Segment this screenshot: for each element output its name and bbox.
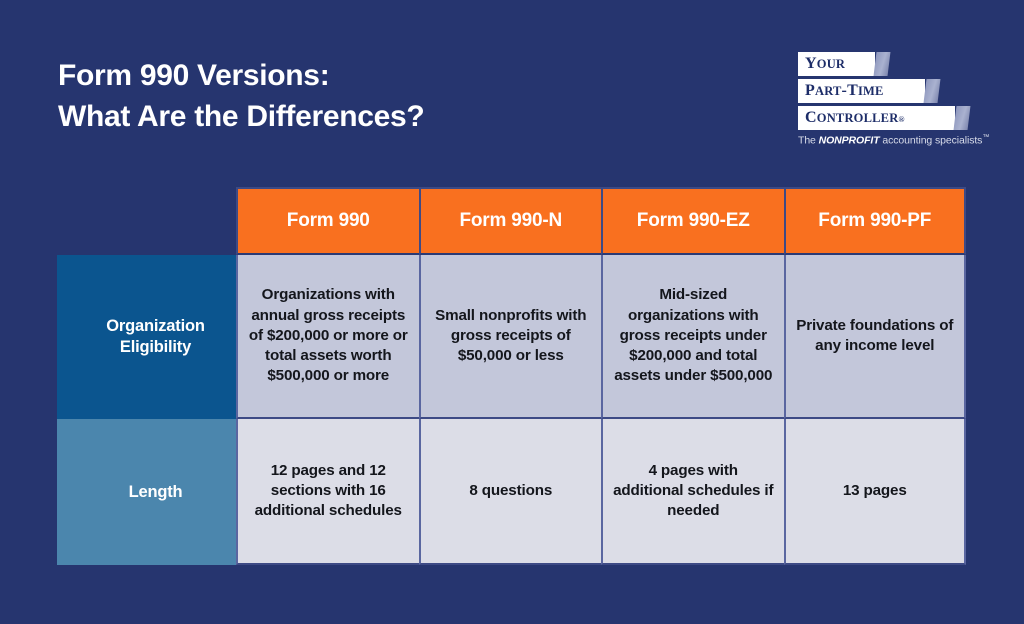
- column-header-form-990-n: Form 990-N: [419, 187, 602, 255]
- cell-eligibility-form-990-n: Small nonprofits with gross receipts of …: [419, 255, 602, 419]
- page-title-line-2: What Are the Differences?: [58, 96, 424, 137]
- table-row: Length 12 pages and 12 sections with 16 …: [57, 419, 966, 565]
- column-header-form-990-ez: Form 990-EZ: [601, 187, 784, 255]
- row-label-length: Length: [57, 419, 236, 565]
- logo-text-part-time: PART-TIME: [805, 82, 884, 100]
- logo-line-your: YOUR: [798, 52, 978, 76]
- cell-eligibility-form-990-ez: Mid-sized organizations with gross recei…: [601, 255, 784, 419]
- logo-plate-controller: CONTROLLER®: [798, 106, 955, 130]
- logo-line-part-time: PART-TIME: [798, 79, 978, 103]
- registered-trademark-icon: ®: [898, 111, 904, 126]
- cell-eligibility-form-990: Organizations with annual gross receipts…: [236, 255, 419, 419]
- logo-plate-part-time: PART-TIME: [798, 79, 925, 103]
- table-corner-cell: [57, 187, 236, 255]
- cell-length-form-990-ez: 4 pages with additional schedules if nee…: [601, 419, 784, 565]
- tagline-prefix: The: [798, 135, 819, 147]
- page-title: Form 990 Versions: What Are the Differen…: [58, 55, 424, 138]
- logo-fold-icon: [924, 79, 941, 103]
- tagline-emphasis: NONPROFIT: [819, 135, 880, 147]
- company-logo: YOUR PART-TIME CONTROLLER® The NONPROFIT…: [798, 52, 978, 147]
- column-header-form-990-pf: Form 990-PF: [784, 187, 967, 255]
- trademark-icon: ™: [982, 134, 989, 141]
- cell-length-form-990-pf: 13 pages: [784, 419, 967, 565]
- table-header-row: Form 990 Form 990-N Form 990-EZ Form 990…: [57, 187, 966, 255]
- logo-fold-icon: [874, 52, 891, 76]
- table-row: Organization Eligibility Organizations w…: [57, 255, 966, 419]
- logo-line-controller: CONTROLLER®: [798, 106, 978, 130]
- tagline-suffix: accounting specialists: [880, 135, 983, 147]
- logo-text-controller: CONTROLLER: [805, 109, 898, 127]
- cell-eligibility-form-990-pf: Private foundations of any income level: [784, 255, 967, 419]
- cell-length-form-990-n: 8 questions: [419, 419, 602, 565]
- logo-fold-icon: [954, 106, 971, 130]
- form-990-comparison-table: Form 990 Form 990-N Form 990-EZ Form 990…: [57, 187, 966, 565]
- cell-length-form-990: 12 pages and 12 sections with 16 additio…: [236, 419, 419, 565]
- logo-plate-your: YOUR: [798, 52, 875, 76]
- logo-text-your: YOUR: [805, 55, 845, 73]
- page-title-line-1: Form 990 Versions:: [58, 55, 424, 96]
- column-header-form-990: Form 990: [236, 187, 419, 255]
- logo-tagline: The NONPROFIT accounting specialists™: [798, 134, 978, 147]
- row-label-organization-eligibility: Organization Eligibility: [57, 255, 236, 419]
